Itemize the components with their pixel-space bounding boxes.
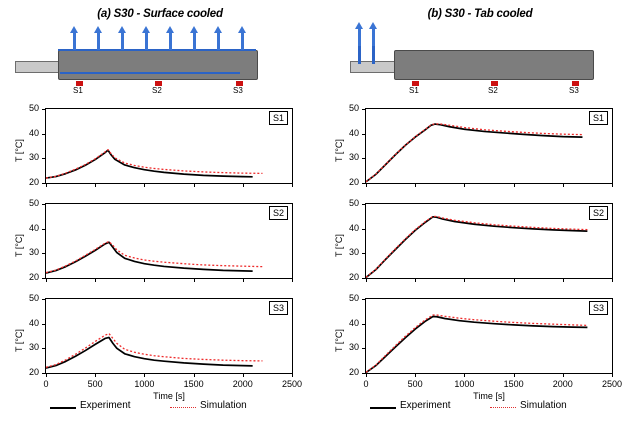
series-simulation — [46, 241, 262, 272]
y-tick — [362, 109, 365, 110]
x-tick — [292, 374, 293, 377]
x-tick-label: 1500 — [177, 379, 211, 389]
legend-dotted-line-icon — [170, 407, 196, 408]
sensor-badge-S1: S1 — [269, 111, 288, 125]
x-tick — [194, 374, 195, 377]
x-tick — [95, 279, 96, 282]
x-tick — [366, 279, 367, 282]
plot-area-a-S2 — [45, 203, 293, 279]
x-tick — [243, 279, 244, 282]
x-tick — [514, 279, 515, 282]
y-tick-label: 40 — [339, 318, 359, 328]
legend-solid-line-icon — [370, 407, 396, 409]
series-experiment — [46, 242, 253, 273]
x-tick-label: 1500 — [497, 379, 531, 389]
y-tick-label: 50 — [339, 103, 359, 113]
cooling-surface-line-bottom — [60, 72, 240, 74]
y-tick — [362, 253, 365, 254]
x-tick-label: 2500 — [595, 379, 629, 389]
series-experiment — [366, 217, 587, 278]
series-simulation — [46, 150, 262, 178]
plot-area-a-S1 — [45, 108, 293, 184]
y-tick — [362, 229, 365, 230]
y-tick — [42, 373, 45, 374]
plot-area-b-S1 — [365, 108, 613, 184]
x-tick — [563, 374, 564, 377]
x-tick — [243, 374, 244, 377]
y-tick — [362, 373, 365, 374]
y-tick — [42, 299, 45, 300]
y-tick — [362, 183, 365, 184]
panel-b-title: (b) S30 - Tab cooled — [320, 8, 640, 20]
y-axis-label: T [°C] — [14, 139, 24, 162]
y-tick — [42, 229, 45, 230]
x-tick — [612, 184, 613, 187]
x-tick — [612, 279, 613, 282]
legend-solid-line-icon — [50, 407, 76, 409]
schematic-surface-cooled: S1 S2 S3 — [0, 28, 320, 100]
y-tick-label: 20 — [19, 367, 39, 377]
y-tick-label: 20 — [339, 177, 359, 187]
x-tick — [144, 279, 145, 282]
x-tick — [514, 184, 515, 187]
y-tick — [362, 278, 365, 279]
x-tick — [464, 184, 465, 187]
x-tick — [612, 374, 613, 377]
series-experiment — [46, 150, 253, 178]
sensor-label-s3: S3 — [569, 86, 579, 95]
x-tick — [563, 279, 564, 282]
y-tick — [42, 109, 45, 110]
panel-a-title: (a) S30 - Surface cooled — [0, 8, 320, 20]
x-tick-label: 0 — [349, 379, 383, 389]
sensor-badge-S3: S3 — [589, 301, 608, 315]
y-tick-label: 40 — [19, 318, 39, 328]
y-tick-label: 20 — [339, 367, 359, 377]
x-tick-label: 0 — [29, 379, 63, 389]
y-tick — [42, 158, 45, 159]
y-axis-label: T [°C] — [334, 234, 344, 257]
y-tick-label: 20 — [19, 272, 39, 282]
x-tick — [46, 184, 47, 187]
y-tick — [42, 348, 45, 349]
y-tick — [362, 204, 365, 205]
series-experiment — [46, 337, 253, 368]
y-tick — [362, 134, 365, 135]
y-tick — [42, 324, 45, 325]
sensor-badge-S3: S3 — [269, 301, 288, 315]
y-tick — [42, 253, 45, 254]
x-tick — [292, 279, 293, 282]
sensor-label-s3: S3 — [233, 86, 243, 95]
x-tick — [514, 374, 515, 377]
plot-area-a-S3 — [45, 298, 293, 374]
x-tick-label: 1000 — [127, 379, 161, 389]
x-tick-label: 1000 — [447, 379, 481, 389]
cooling-surface-line-top — [58, 49, 256, 51]
y-tick-label: 40 — [339, 128, 359, 138]
y-tick — [362, 348, 365, 349]
x-tick-label: 500 — [398, 379, 432, 389]
y-tick — [42, 204, 45, 205]
x-tick — [415, 184, 416, 187]
x-tick — [292, 184, 293, 187]
legend-dotted-line-icon — [490, 407, 516, 408]
x-tick — [243, 184, 244, 187]
plot-area-b-S3 — [365, 298, 613, 374]
y-tick — [42, 183, 45, 184]
x-tick — [366, 184, 367, 187]
x-tick — [46, 279, 47, 282]
y-tick-label: 50 — [339, 198, 359, 208]
x-tick — [95, 184, 96, 187]
legend-simulation-label: Simulation — [200, 400, 247, 411]
x-tick — [194, 279, 195, 282]
x-tick — [95, 374, 96, 377]
x-tick — [46, 374, 47, 377]
x-tick-label: 2000 — [546, 379, 580, 389]
y-tick-label: 40 — [19, 223, 39, 233]
x-tick — [563, 184, 564, 187]
x-tick — [415, 374, 416, 377]
y-axis-label: T [°C] — [334, 139, 344, 162]
y-axis-label: T [°C] — [14, 329, 24, 352]
x-tick-label: 2000 — [226, 379, 260, 389]
sensor-badge-S1: S1 — [589, 111, 608, 125]
sensor-badge-S2: S2 — [589, 206, 608, 220]
x-tick-label: 500 — [78, 379, 112, 389]
plot-area-b-S2 — [365, 203, 613, 279]
sensor-badge-S2: S2 — [269, 206, 288, 220]
y-tick-label: 50 — [19, 293, 39, 303]
sensor-label-s1: S1 — [409, 86, 419, 95]
y-tick — [362, 299, 365, 300]
y-tick-label: 40 — [339, 223, 359, 233]
x-tick — [366, 374, 367, 377]
cell-body — [58, 50, 258, 80]
x-tick — [464, 374, 465, 377]
y-tick-label: 40 — [19, 128, 39, 138]
legend-panel-a: Experiment Simulation — [40, 398, 320, 416]
schematic-tab-cooled: S1 S2 S3 — [320, 28, 640, 100]
y-tick — [42, 134, 45, 135]
y-axis-label: T [°C] — [14, 234, 24, 257]
sensor-label-s2: S2 — [488, 86, 498, 95]
sensor-label-s1: S1 — [73, 86, 83, 95]
x-tick-label: 2500 — [275, 379, 309, 389]
x-tick — [415, 279, 416, 282]
y-tick-label: 50 — [19, 198, 39, 208]
cell-body — [394, 50, 594, 80]
x-tick — [194, 184, 195, 187]
x-tick — [464, 279, 465, 282]
series-experiment — [366, 317, 587, 373]
y-tick-label: 20 — [19, 177, 39, 187]
legend-experiment-label: Experiment — [80, 400, 131, 411]
legend-experiment-label: Experiment — [400, 400, 451, 411]
x-tick — [144, 374, 145, 377]
y-tick — [362, 324, 365, 325]
y-tick — [362, 158, 365, 159]
series-simulation — [46, 334, 262, 368]
y-tick-label: 50 — [19, 103, 39, 113]
legend-simulation-label: Simulation — [520, 400, 567, 411]
y-tick-label: 50 — [339, 293, 359, 303]
y-tick — [42, 278, 45, 279]
legend-panel-b: Experiment Simulation — [360, 398, 640, 416]
x-tick — [144, 184, 145, 187]
sensor-label-s2: S2 — [152, 86, 162, 95]
series-experiment — [366, 124, 582, 182]
y-axis-label: T [°C] — [334, 329, 344, 352]
y-tick-label: 20 — [339, 272, 359, 282]
